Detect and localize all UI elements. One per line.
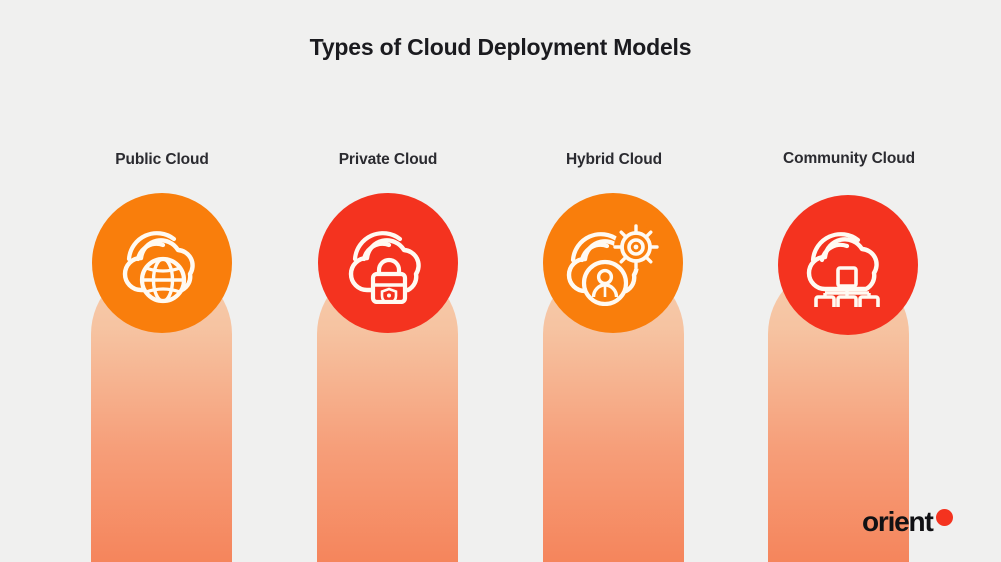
- column-label-public-cloud: Public Cloud: [49, 151, 275, 169]
- icon-badge-private-cloud: [318, 193, 458, 333]
- column-private-cloud: Private Cloud: [275, 0, 501, 562]
- column-community-cloud: Community Cloud: [726, 0, 952, 562]
- cloud-lock-icon: [342, 222, 434, 304]
- column-public-cloud: Public Cloud: [49, 0, 275, 562]
- orient-logo: orient: [862, 508, 953, 536]
- cloud-deployment-models-infographic: Types of Cloud Deployment Models Public …: [0, 0, 1001, 562]
- logo-dot-icon: [936, 509, 953, 526]
- cloud-gear-user-icon: [563, 220, 663, 306]
- column-label-private-cloud: Private Cloud: [275, 151, 501, 169]
- icon-badge-community-cloud: [778, 195, 918, 335]
- icon-badge-hybrid-cloud: [543, 193, 683, 333]
- column-label-hybrid-cloud: Hybrid Cloud: [501, 151, 727, 169]
- cloud-globe-icon: [116, 222, 208, 304]
- cloud-network-icon: [800, 223, 896, 307]
- column-hybrid-cloud: Hybrid Cloud: [501, 0, 727, 562]
- icon-badge-public-cloud: [92, 193, 232, 333]
- logo-wordmark: orient: [862, 508, 933, 536]
- column-label-community-cloud: Community Cloud: [736, 150, 962, 168]
